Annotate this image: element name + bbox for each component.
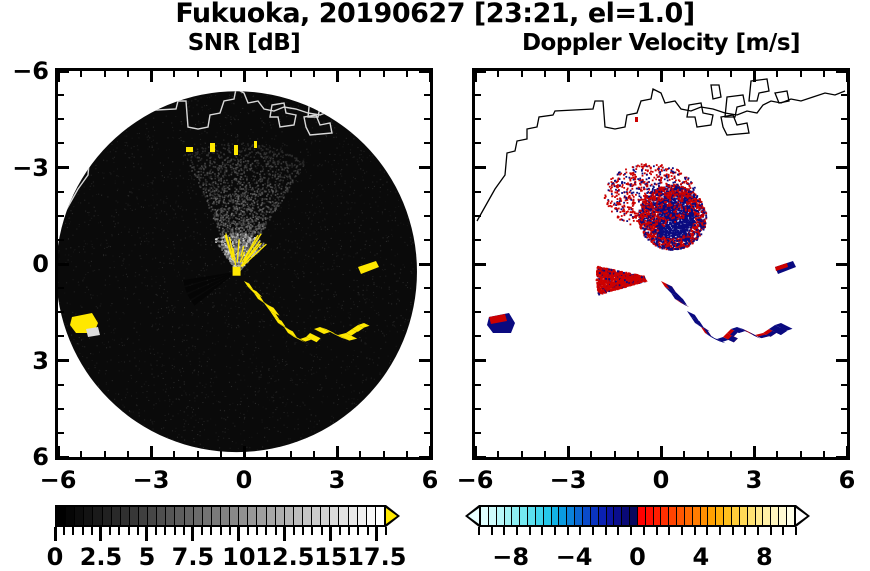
beam-fan-speckle — [200, 168, 202, 170]
noise-speckle — [125, 290, 126, 291]
noise-speckle — [369, 358, 370, 359]
noise-speckle — [321, 297, 322, 298]
beam-fan-speckle — [229, 185, 231, 187]
beam-fan-speckle — [262, 215, 264, 217]
noise-speckle — [243, 361, 244, 362]
noise-speckle — [205, 178, 206, 179]
beam-fan-speckle — [251, 210, 253, 212]
beam-fan-speckle — [220, 170, 222, 172]
noise-speckle — [222, 431, 223, 432]
beam-fan-speckle — [246, 216, 248, 218]
noise-speckle — [379, 287, 380, 288]
noise-speckle — [112, 380, 113, 381]
beam-fan-speckle — [296, 167, 298, 169]
beam-fan-speckle — [232, 163, 234, 165]
noise-speckle — [148, 306, 149, 307]
noise-speckle — [109, 318, 110, 319]
noise-speckle — [186, 394, 187, 395]
noise-speckle — [303, 266, 304, 267]
noise-speckle — [276, 169, 277, 170]
noise-speckle — [311, 197, 312, 198]
noise-speckle — [350, 149, 351, 150]
beam-fan-speckle — [228, 175, 230, 177]
noise-speckle — [268, 149, 269, 150]
noise-speckle — [193, 231, 194, 232]
noise-speckle — [390, 191, 391, 192]
clutter-core — [234, 246, 236, 248]
beam-fan-speckle — [211, 206, 213, 208]
noise-speckle — [237, 139, 238, 140]
noise-speckle — [390, 315, 391, 316]
noise-speckle — [200, 97, 201, 98]
noise-speckle — [136, 405, 137, 406]
noise-speckle — [249, 447, 250, 448]
noise-speckle — [192, 416, 193, 417]
noise-speckle — [339, 387, 340, 388]
noise-speckle — [317, 389, 318, 390]
beam-fan-speckle — [230, 197, 232, 199]
noise-speckle — [353, 138, 354, 139]
noise-speckle — [374, 379, 375, 380]
noise-speckle — [351, 181, 352, 182]
noise-speckle — [397, 331, 398, 332]
left-panel-subtitle: SNR [dB] — [55, 30, 433, 56]
noise-speckle — [121, 232, 122, 233]
noise-speckle — [107, 196, 108, 197]
beam-fan-speckle — [211, 194, 213, 196]
noise-speckle — [391, 249, 392, 250]
noise-speckle — [276, 407, 277, 408]
beam-fan-speckle — [242, 215, 244, 217]
noise-speckle — [188, 190, 189, 191]
noise-speckle — [124, 208, 125, 209]
beam-fan-speckle — [283, 192, 285, 194]
noise-speckle — [266, 391, 267, 392]
noise-speckle — [272, 210, 273, 211]
noise-speckle — [103, 254, 104, 255]
noise-speckle — [73, 279, 74, 280]
noise-speckle — [71, 256, 72, 257]
noise-speckle — [249, 298, 250, 299]
beam-fan-speckle — [225, 182, 227, 184]
noise-speckle — [172, 365, 173, 366]
noise-speckle — [247, 411, 248, 412]
noise-speckle — [167, 238, 168, 239]
beam-fan-speckle — [269, 211, 271, 213]
noise-speckle — [207, 217, 208, 218]
beam-fan-speckle — [268, 162, 270, 164]
beam-fan-speckle — [243, 208, 245, 210]
noise-speckle — [336, 253, 337, 254]
beam-fan-speckle — [280, 172, 282, 174]
noise-speckle — [361, 311, 362, 312]
noise-speckle — [308, 343, 309, 344]
clutter-core — [236, 238, 238, 240]
noise-speckle — [299, 223, 300, 224]
noise-speckle — [294, 344, 295, 345]
noise-speckle — [58, 252, 59, 253]
noise-speckle — [238, 365, 239, 366]
noise-speckle — [201, 366, 202, 367]
noise-speckle — [129, 255, 130, 256]
beam-fan-speckle — [275, 207, 277, 209]
noise-speckle — [372, 305, 373, 306]
beam-fan-speckle — [285, 186, 287, 188]
beam-fan-speckle — [237, 203, 239, 205]
beam-fan-speckle — [281, 193, 283, 195]
noise-speckle — [335, 330, 336, 331]
beam-fan-speckle — [249, 219, 251, 221]
beam-fan-speckle — [264, 156, 266, 158]
noise-speckle — [122, 345, 123, 346]
noise-speckle — [263, 283, 264, 284]
noise-speckle — [323, 396, 324, 397]
beam-fan-speckle — [250, 164, 252, 166]
noise-speckle — [114, 332, 115, 333]
noise-speckle — [182, 192, 183, 193]
noise-speckle — [396, 317, 397, 318]
noise-speckle — [131, 180, 132, 181]
noise-speckle — [332, 254, 333, 255]
beam-fan-speckle — [216, 190, 218, 192]
noise-speckle — [92, 295, 93, 296]
noise-speckle — [178, 206, 179, 207]
beam-fan-speckle — [264, 152, 266, 154]
noise-speckle — [334, 184, 335, 185]
noise-speckle — [128, 157, 129, 158]
noise-speckle — [152, 238, 153, 239]
beam-fan-speckle — [241, 176, 243, 178]
noise-speckle — [161, 366, 162, 367]
beam-fan-speckle — [288, 155, 290, 157]
noise-speckle — [337, 148, 338, 149]
beam-fan-speckle — [260, 225, 262, 227]
beam-fan-speckle — [210, 191, 212, 193]
noise-speckle — [283, 155, 284, 156]
beam-fan-speckle — [266, 165, 268, 167]
noise-speckle — [153, 180, 154, 181]
noise-speckle — [226, 175, 227, 176]
clutter-core — [240, 237, 242, 239]
beam-fan-speckle — [266, 156, 268, 158]
beam-fan-speckle — [292, 181, 294, 183]
noise-speckle — [105, 373, 106, 374]
noise-speckle — [133, 293, 134, 294]
beam-fan-speckle — [218, 173, 220, 175]
noise-speckle — [71, 335, 72, 336]
beam-fan-speckle — [255, 228, 257, 230]
noise-speckle — [357, 356, 358, 357]
noise-speckle — [88, 215, 89, 216]
noise-speckle — [184, 381, 185, 382]
noise-speckle — [325, 135, 326, 136]
noise-speckle — [141, 164, 142, 165]
noise-speckle — [344, 141, 345, 142]
noise-speckle — [319, 309, 320, 310]
noise-speckle — [391, 303, 392, 304]
noise-speckle — [290, 106, 291, 107]
clutter-core — [234, 248, 236, 250]
noise-speckle — [156, 318, 157, 319]
noise-speckle — [291, 380, 292, 381]
noise-speckle — [319, 141, 320, 142]
beam-fan-speckle — [219, 220, 221, 222]
noise-speckle — [273, 285, 274, 286]
noise-speckle — [169, 263, 170, 264]
noise-speckle — [241, 401, 242, 402]
beam-fan-speckle — [233, 159, 235, 161]
noise-speckle — [298, 140, 299, 141]
noise-speckle — [172, 326, 173, 327]
noise-speckle — [137, 232, 138, 233]
beam-fan-speckle — [197, 165, 199, 167]
noise-speckle — [351, 398, 352, 399]
beam-fan-speckle — [225, 187, 227, 189]
noise-speckle — [241, 444, 242, 445]
noise-speckle — [274, 359, 275, 360]
noise-speckle — [239, 359, 240, 360]
beam-fan-speckle — [257, 185, 259, 187]
noise-speckle — [259, 377, 260, 378]
noise-speckle — [297, 199, 298, 200]
noise-speckle — [340, 219, 341, 220]
noise-speckle — [288, 224, 289, 225]
noise-speckle — [291, 191, 292, 192]
noise-speckle — [391, 264, 392, 265]
noise-speckle — [324, 218, 325, 219]
noise-speckle — [266, 408, 267, 409]
noise-speckle — [313, 258, 314, 259]
noise-speckle — [384, 282, 385, 283]
noise-speckle — [87, 272, 88, 273]
noise-speckle — [353, 301, 354, 302]
noise-speckle — [152, 188, 153, 189]
noise-speckle — [327, 311, 328, 312]
noise-speckle — [279, 363, 280, 364]
beam-fan-speckle — [217, 186, 219, 188]
noise-speckle — [91, 175, 92, 176]
noise-speckle — [208, 349, 209, 350]
noise-speckle — [369, 204, 370, 205]
noise-speckle — [406, 309, 407, 310]
noise-speckle — [363, 180, 364, 181]
beam-fan-speckle — [254, 193, 256, 195]
noise-speckle — [199, 154, 200, 155]
beam-fan-speckle — [208, 190, 210, 192]
noise-speckle — [253, 335, 254, 336]
noise-speckle — [317, 294, 318, 295]
noise-speckle — [125, 209, 126, 210]
beam-fan-speckle — [236, 180, 238, 182]
beam-fan-speckle — [245, 202, 247, 204]
beam-fan-speckle — [221, 144, 223, 146]
noise-speckle — [300, 406, 301, 407]
noise-speckle — [303, 322, 304, 323]
noise-speckle — [383, 270, 384, 271]
noise-speckle — [285, 406, 286, 407]
noise-speckle — [279, 119, 280, 120]
beam-fan-speckle — [260, 224, 262, 226]
noise-speckle — [340, 155, 341, 156]
beam-fan-speckle — [277, 205, 279, 207]
noise-speckle — [305, 212, 306, 213]
noise-speckle — [140, 302, 141, 303]
noise-speckle — [324, 250, 325, 251]
beam-fan-speckle — [203, 169, 205, 171]
noise-speckle — [373, 284, 374, 285]
noise-speckle — [170, 419, 171, 420]
noise-speckle — [100, 303, 101, 304]
noise-speckle — [192, 190, 193, 191]
noise-speckle — [336, 137, 337, 138]
noise-speckle — [273, 356, 274, 357]
noise-speckle — [345, 232, 346, 233]
noise-speckle — [185, 430, 186, 431]
noise-speckle — [319, 420, 320, 421]
noise-speckle — [255, 388, 256, 389]
noise-speckle — [331, 416, 332, 417]
noise-speckle — [147, 186, 148, 187]
noise-speckle — [273, 296, 274, 297]
noise-speckle — [79, 226, 80, 227]
noise-speckle — [192, 412, 193, 413]
noise-speckle — [412, 242, 413, 243]
noise-speckle — [311, 142, 312, 143]
noise-speckle — [383, 176, 384, 177]
noise-speckle — [122, 370, 123, 371]
noise-speckle — [114, 340, 115, 341]
noise-speckle — [88, 289, 89, 290]
noise-speckle — [219, 292, 220, 293]
noise-speckle — [127, 355, 128, 356]
noise-speckle — [389, 289, 390, 290]
noise-speckle — [202, 402, 203, 403]
noise-speckle — [166, 213, 167, 214]
noise-speckle — [316, 234, 317, 235]
noise-speckle — [228, 324, 229, 325]
beam-fan-speckle — [199, 168, 201, 170]
beam-fan-speckle — [207, 202, 209, 204]
noise-speckle — [195, 219, 196, 220]
noise-speckle — [387, 326, 388, 327]
noise-speckle — [353, 398, 354, 399]
noise-speckle — [372, 218, 373, 219]
noise-speckle — [278, 431, 279, 432]
beam-fan-speckle — [261, 156, 263, 158]
noise-speckle — [223, 438, 224, 439]
noise-speckle — [114, 328, 115, 329]
noise-speckle — [162, 267, 163, 268]
beam-fan-speckle — [214, 166, 216, 168]
noise-speckle — [210, 229, 211, 230]
noise-speckle — [160, 262, 161, 263]
noise-speckle — [118, 362, 119, 363]
noise-speckle — [198, 114, 199, 115]
noise-speckle — [378, 314, 379, 315]
beam-fan-speckle — [223, 214, 225, 216]
noise-speckle — [229, 404, 230, 405]
noise-speckle — [148, 232, 149, 233]
noise-speckle — [203, 447, 204, 448]
noise-speckle — [374, 186, 375, 187]
noise-speckle — [100, 305, 101, 306]
beam-fan-speckle — [259, 190, 261, 192]
noise-speckle — [375, 241, 376, 242]
noise-speckle — [182, 341, 183, 342]
snr-ppi-panel[interactable] — [55, 68, 433, 460]
noise-speckle — [325, 367, 326, 368]
noise-speckle — [118, 176, 119, 177]
snr-plot-canvas — [58, 71, 430, 457]
beam-fan-speckle — [261, 145, 263, 147]
noise-speckle — [274, 291, 275, 292]
noise-speckle — [156, 360, 157, 361]
noise-speckle — [285, 342, 286, 343]
noise-speckle — [104, 173, 105, 174]
noise-speckle — [155, 282, 156, 283]
noise-speckle — [173, 260, 174, 261]
beam-fan-speckle — [193, 167, 195, 169]
beam-fan-speckle — [269, 219, 271, 221]
beam-fan-speckle — [268, 178, 270, 180]
noise-speckle — [226, 366, 227, 367]
noise-speckle — [250, 180, 251, 181]
beam-fan-speckle — [195, 152, 197, 154]
noise-speckle — [240, 353, 241, 354]
beam-fan-speckle — [223, 190, 225, 192]
noise-speckle — [329, 307, 330, 308]
noise-speckle — [328, 184, 329, 185]
noise-speckle — [212, 302, 213, 303]
noise-speckle — [176, 217, 177, 218]
noise-speckle — [97, 345, 98, 346]
noise-speckle — [87, 212, 88, 213]
noise-speckle — [115, 223, 116, 224]
noise-speckle — [331, 349, 332, 350]
noise-speckle — [173, 244, 174, 245]
noise-speckle — [248, 113, 249, 114]
beam-fan-speckle — [222, 186, 224, 188]
noise-speckle — [374, 230, 375, 231]
noise-speckle — [159, 324, 160, 325]
beam-fan-speckle — [271, 204, 273, 206]
noise-speckle — [92, 360, 93, 361]
noise-speckle — [357, 280, 358, 281]
noise-speckle — [167, 137, 168, 138]
noise-speckle — [298, 278, 299, 279]
beam-fan-speckle — [225, 223, 227, 225]
noise-speckle — [293, 106, 294, 107]
beam-fan-speckle — [267, 183, 269, 185]
noise-speckle — [296, 228, 297, 229]
noise-speckle — [298, 105, 299, 106]
beam-fan-speckle — [252, 187, 254, 189]
noise-speckle — [289, 311, 290, 312]
noise-speckle — [319, 359, 320, 360]
beam-fan-speckle — [232, 200, 234, 202]
noise-speckle — [192, 350, 193, 351]
noise-speckle — [350, 385, 351, 386]
noise-speckle — [104, 232, 105, 233]
noise-speckle — [144, 419, 145, 420]
noise-speckle — [195, 346, 196, 347]
noise-speckle — [333, 294, 334, 295]
noise-speckle — [124, 345, 125, 346]
noise-speckle — [260, 265, 261, 266]
noise-speckle — [210, 294, 211, 295]
beam-fan-speckle — [234, 179, 236, 181]
beam-fan-speckle — [224, 144, 226, 146]
